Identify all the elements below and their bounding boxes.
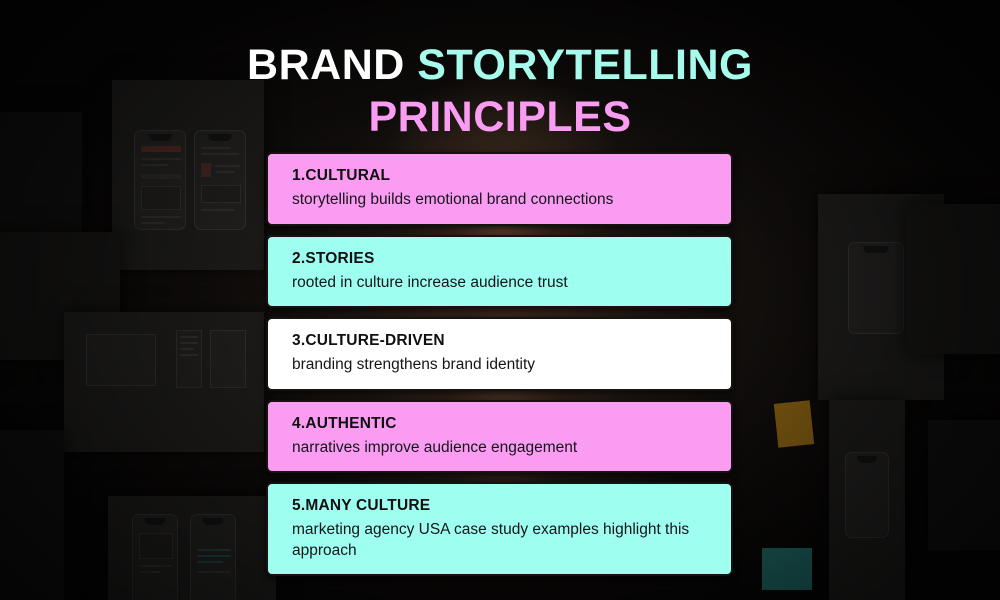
list-item[interactable]: 3.CULTURE-DRIVEN branding strengthens br…: [266, 317, 733, 391]
phone-notch-icon: [145, 518, 165, 525]
card-title: 1.CULTURAL: [292, 166, 707, 185]
background-sheet: [108, 496, 276, 600]
title-line-1: BRAND STORYTELLING: [0, 44, 1000, 87]
list-item[interactable]: 1.CULTURAL storytelling builds emotional…: [266, 152, 733, 226]
background-sheet: [64, 312, 264, 452]
phone-mockup: [134, 130, 186, 230]
card-title: 4.AUTHENTIC: [292, 414, 707, 433]
sticky-note: [774, 400, 814, 448]
phone-mockup: [190, 514, 236, 600]
card-title: 5.MANY CULTURE: [292, 496, 707, 515]
phone-notch-icon: [864, 246, 889, 253]
phone-mockup: [132, 514, 178, 600]
card-body: storytelling builds emotional brand conn…: [292, 190, 707, 210]
list-item[interactable]: 5.MANY CULTURE marketing agency USA case…: [266, 482, 733, 576]
background-sheet: [928, 420, 1000, 550]
page-title: BRAND STORYTELLING PRINCIPLES: [0, 44, 1000, 139]
phone-mockup: [194, 130, 246, 230]
title-word-brand: BRAND: [247, 41, 405, 89]
title-word-storytelling: STORYTELLING: [417, 41, 753, 89]
card-body: narratives improve audience engagement: [292, 438, 707, 458]
title-word-principles: PRINCIPLES: [0, 96, 1000, 139]
background-sheet: [0, 430, 64, 600]
list-item[interactable]: 2.STORIES rooted in culture increase aud…: [266, 235, 733, 309]
card-title: 3.CULTURE-DRIVEN: [292, 331, 707, 350]
background-sheet: [829, 400, 905, 600]
poster-canvas: BRAND STORYTELLING PRINCIPLES 1.CULTURAL…: [0, 0, 1000, 600]
phone-notch-icon: [203, 518, 223, 525]
card-body: marketing agency USA case study examples…: [292, 520, 707, 560]
list-item[interactable]: 4.AUTHENTIC narratives improve audience …: [266, 400, 733, 474]
card-body: branding strengthens brand identity: [292, 355, 707, 375]
background-sheet: [906, 204, 1000, 354]
phone-notch-icon: [857, 456, 876, 463]
card-title: 2.STORIES: [292, 249, 707, 268]
phone-mockup: [848, 242, 904, 334]
sticky-note: [762, 548, 812, 590]
card-body: rooted in culture increase audience trus…: [292, 273, 707, 293]
principles-list: 1.CULTURAL storytelling builds emotional…: [266, 152, 733, 576]
phone-mockup: [845, 452, 889, 538]
